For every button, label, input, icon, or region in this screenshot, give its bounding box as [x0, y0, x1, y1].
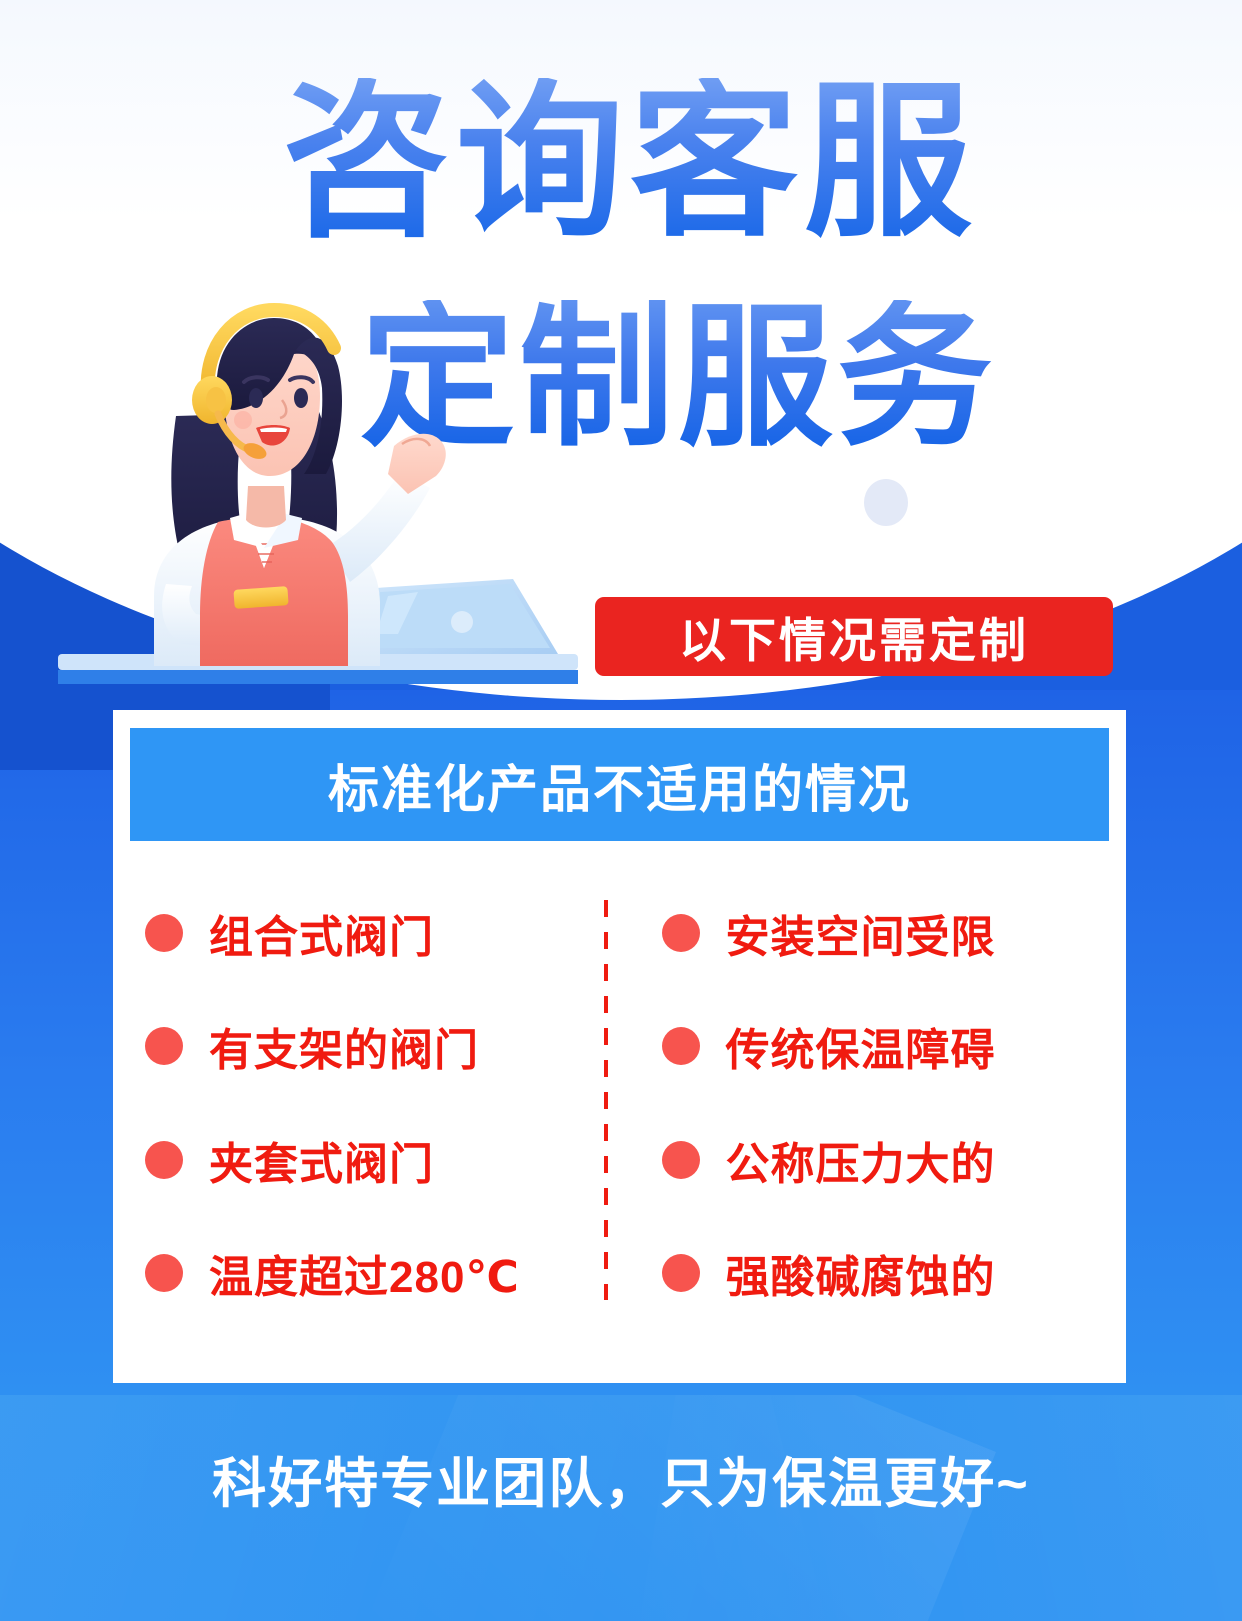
list-item-label: 安装空间受限: [726, 901, 996, 965]
bullet-dot-icon: [145, 1254, 183, 1292]
list-item-label: 强酸碱腐蚀的: [726, 1241, 996, 1305]
bullet-dot-icon: [662, 914, 700, 952]
conditions-card: 标准化产品不适用的情况 组合式阀门 有支架的阀门 夹套式阀门 温度超过280℃: [113, 710, 1126, 1383]
bullet-dot-icon: [662, 1027, 700, 1065]
bullet-dot-icon: [662, 1141, 700, 1179]
custom-required-ribbon: 以下情况需定制: [595, 597, 1113, 676]
customer-service-agent-illustration: [58, 296, 578, 696]
list-item-label: 有支架的阀门: [209, 1014, 479, 1078]
bullet-dot-icon: [662, 1254, 700, 1292]
laptop-shape: [358, 579, 558, 654]
promo-poster: 咨询客服 定制服务: [0, 0, 1242, 1621]
list-item: 有支架的阀门: [145, 990, 610, 1104]
eye-right: [294, 388, 308, 408]
bullet-dot-icon: [145, 1027, 183, 1065]
blush: [234, 411, 252, 429]
list-item: 夹套式阀门: [145, 1103, 610, 1217]
card-header-title: 标准化产品不适用的情况: [130, 728, 1109, 841]
list-item-label: 组合式阀门: [209, 901, 434, 965]
name-badge: [233, 586, 288, 609]
list-item-label: 传统保温障碍: [726, 1014, 996, 1078]
eye-left: [249, 388, 263, 408]
conditions-list: 组合式阀门 有支架的阀门 夹套式阀门 温度超过280℃ 安: [113, 860, 1126, 1330]
conditions-column-right: 安装空间受限 传统保温障碍 公称压力大的 强酸碱腐蚀的: [610, 860, 1127, 1330]
footer-tagline: 科好特专业团队，只为保温更好~: [0, 1439, 1242, 1518]
list-item: 强酸碱腐蚀的: [662, 1217, 1127, 1331]
list-item: 安装空间受限: [662, 876, 1127, 990]
list-item: 组合式阀门: [145, 876, 610, 990]
column-divider-dashed: [604, 900, 608, 1300]
neck-shape: [246, 486, 286, 528]
list-item-label: 夹套式阀门: [209, 1128, 434, 1192]
list-item: 温度超过280℃: [145, 1217, 610, 1331]
bullet-dot-icon: [145, 1141, 183, 1179]
list-item-label: 公称压力大的: [726, 1128, 996, 1192]
list-item-label: 温度超过280℃: [209, 1241, 520, 1305]
bullet-dot-icon: [145, 914, 183, 952]
list-item: 传统保温障碍: [662, 990, 1127, 1104]
list-item: 公称压力大的: [662, 1103, 1127, 1217]
conditions-column-left: 组合式阀门 有支架的阀门 夹套式阀门 温度超过280℃: [113, 860, 610, 1330]
decorative-circle: [864, 479, 908, 526]
